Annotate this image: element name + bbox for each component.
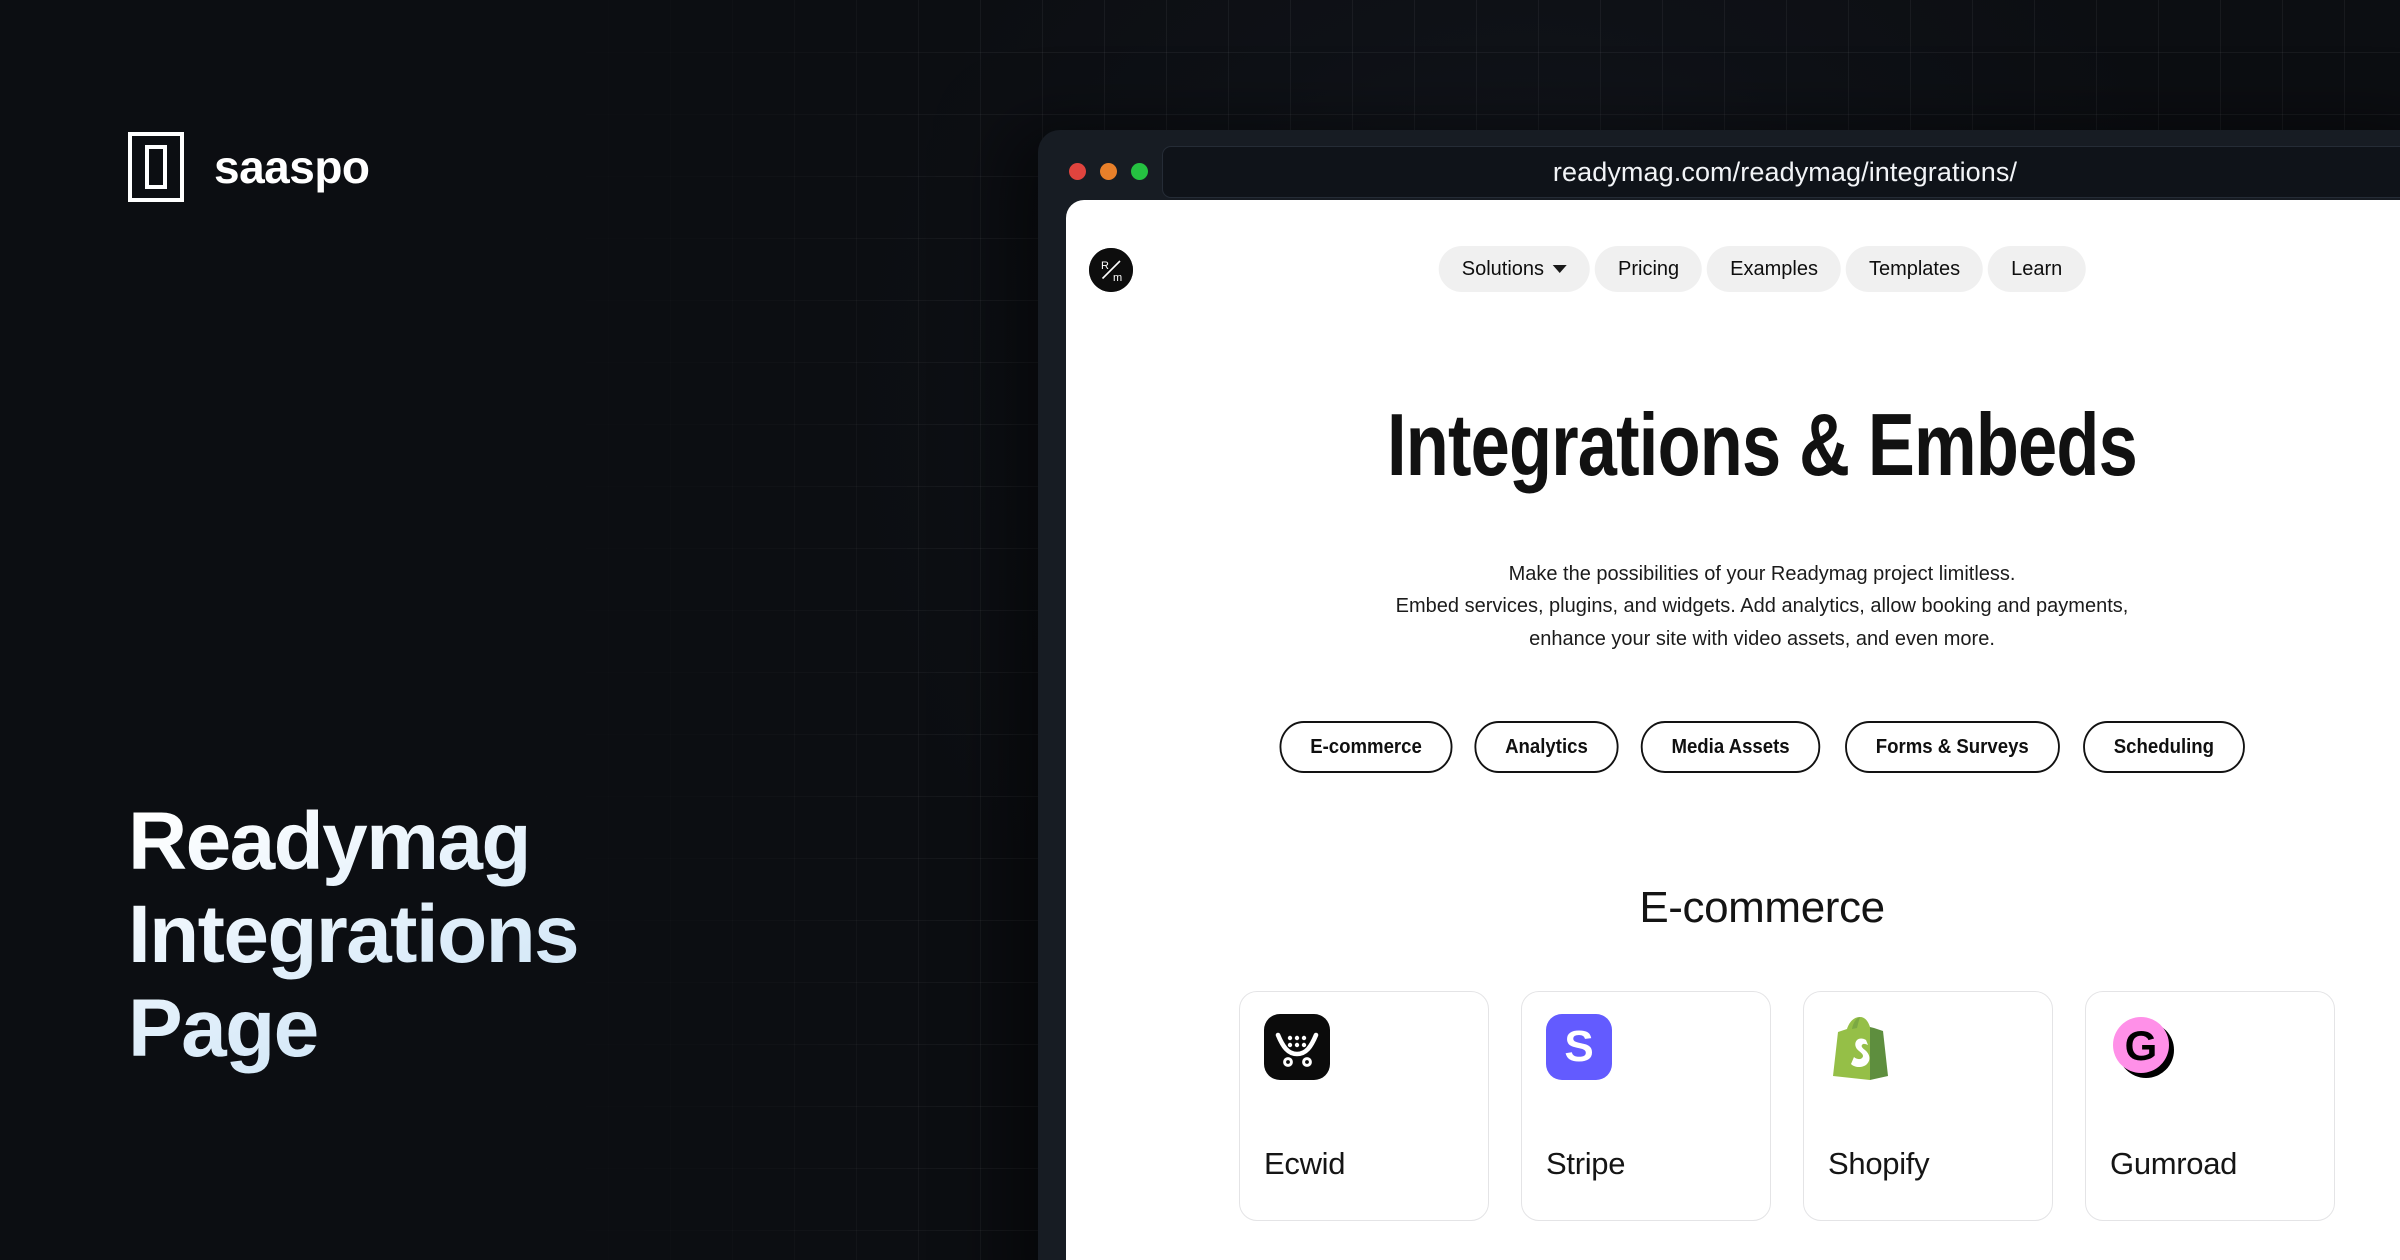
hero-section: Integrations & Embeds Make the possibili… bbox=[1066, 394, 2400, 773]
integration-card-stripe[interactable]: S Stripe bbox=[1521, 991, 1771, 1221]
hero-subtitle-line-2: Embed services, plugins, and widgets. Ad… bbox=[1066, 590, 2400, 622]
nav-item-label: Examples bbox=[1730, 258, 1818, 281]
hero-subtitle-line-1: Make the possibilities of your Readymag … bbox=[1066, 558, 2400, 590]
shopify-bag-icon bbox=[1828, 1014, 1894, 1080]
category-filter-analytics[interactable]: Analytics bbox=[1474, 721, 1618, 773]
section-heading: E-commerce bbox=[1066, 883, 2400, 933]
ecwid-cart-icon bbox=[1264, 1014, 1330, 1080]
chevron-down-icon bbox=[1553, 265, 1567, 273]
brand-lockup[interactable]: saaspo bbox=[128, 132, 370, 202]
category-filter-group: E-commerce Analytics Media Assets Forms … bbox=[1066, 721, 2400, 773]
page-title-line-1: Readymag bbox=[128, 795, 578, 888]
website-viewport: R m Solutions Pricing Examples Templates bbox=[1066, 200, 2400, 1260]
hero-subtitle-line-3: enhance your site with video assets, and… bbox=[1066, 623, 2400, 655]
ecwid-icon-tile bbox=[1264, 1014, 1330, 1080]
nav-item-pricing[interactable]: Pricing bbox=[1595, 246, 1702, 292]
site-navbar: R m Solutions Pricing Examples Templates bbox=[1066, 200, 2400, 330]
nav-item-label: Templates bbox=[1869, 258, 1960, 281]
maximize-window-icon[interactable] bbox=[1131, 163, 1148, 180]
stripe-s-icon: S bbox=[1546, 1014, 1612, 1080]
nav-item-solutions[interactable]: Solutions bbox=[1439, 246, 1590, 292]
address-bar-url: readymag.com/readymag/integrations/ bbox=[1553, 157, 2067, 188]
integration-card-label: Stripe bbox=[1546, 1146, 1746, 1182]
nav-item-label: Learn bbox=[2011, 258, 2062, 281]
brand-name: saaspo bbox=[214, 140, 370, 194]
traffic-light-group bbox=[1069, 163, 1148, 180]
hero-subtitle: Make the possibilities of your Readymag … bbox=[1066, 558, 2400, 655]
svg-text:m: m bbox=[1113, 272, 1122, 284]
integration-card-shopify[interactable]: Shopify bbox=[1803, 991, 2053, 1221]
integration-card-label: Ecwid bbox=[1264, 1146, 1464, 1182]
svg-text:G: G bbox=[2125, 1022, 2158, 1069]
page-title-line-3: Page bbox=[128, 982, 578, 1075]
svg-text:R: R bbox=[1101, 260, 1109, 272]
integration-card-grid: Ecwid S Stripe bbox=[1066, 991, 2400, 1221]
close-window-icon[interactable] bbox=[1069, 163, 1086, 180]
integration-card-gumroad[interactable]: G Gumroad bbox=[2085, 991, 2335, 1221]
page-title: Readymag Integrations Page bbox=[128, 795, 578, 1075]
logo-inner-rect bbox=[145, 145, 167, 189]
integration-card-ecwid[interactable]: Ecwid bbox=[1239, 991, 1489, 1221]
nav-item-examples[interactable]: Examples bbox=[1707, 246, 1841, 292]
nav-pill-group: Solutions Pricing Examples Templates Lea… bbox=[1439, 246, 2086, 292]
nav-item-label: Pricing bbox=[1618, 258, 1679, 281]
browser-window: readymag.com/readymag/integrations/ R m … bbox=[1038, 130, 2400, 1260]
category-filter-forms-surveys[interactable]: Forms & Surveys bbox=[1845, 721, 2059, 773]
integration-card-label: Shopify bbox=[1828, 1146, 2028, 1182]
address-bar[interactable]: readymag.com/readymag/integrations/ bbox=[1162, 146, 2400, 198]
nav-item-templates[interactable]: Templates bbox=[1846, 246, 1983, 292]
nav-item-learn[interactable]: Learn bbox=[1988, 246, 2085, 292]
nav-item-label: Solutions bbox=[1462, 258, 1544, 281]
category-filter-scheduling[interactable]: Scheduling bbox=[2083, 721, 2245, 773]
minimize-window-icon[interactable] bbox=[1100, 163, 1117, 180]
svg-text:S: S bbox=[1564, 1024, 1593, 1070]
gumroad-g-icon: G bbox=[2110, 1014, 2176, 1080]
page-title-line-2: Integrations bbox=[128, 888, 578, 981]
integration-card-label: Gumroad bbox=[2110, 1146, 2310, 1182]
category-filter-ecommerce[interactable]: E-commerce bbox=[1279, 721, 1452, 773]
hero-title: Integrations & Embeds bbox=[1205, 394, 2319, 496]
nested-rectangle-logo-icon bbox=[128, 132, 184, 202]
readymag-logo-icon[interactable]: R m bbox=[1089, 248, 1133, 292]
stripe-icon-tile: S bbox=[1546, 1014, 1612, 1080]
category-filter-media-assets[interactable]: Media Assets bbox=[1641, 721, 1821, 773]
